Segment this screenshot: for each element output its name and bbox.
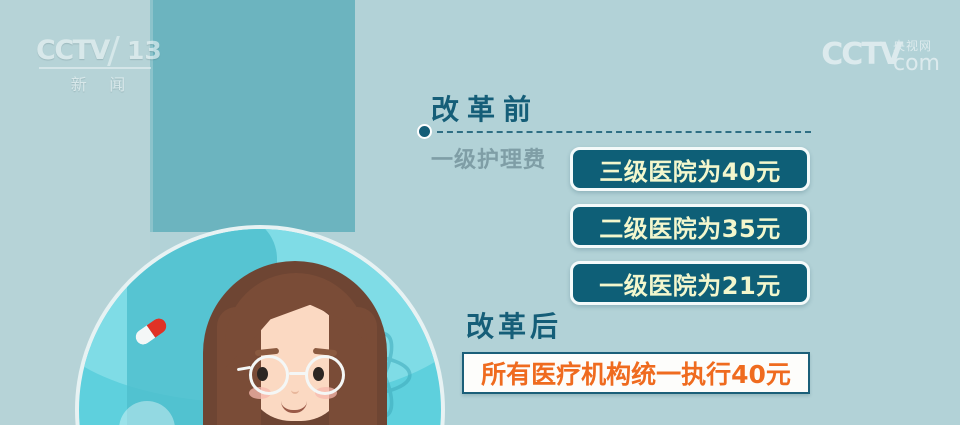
- watermark-cn-label: 央视网: [893, 40, 940, 53]
- care-level-label: 一级护理费: [431, 142, 546, 174]
- doctor-figure: [187, 255, 403, 425]
- background-band-edge: [150, 0, 153, 232]
- fee-badge-tier1: 一级医院为21元: [570, 261, 810, 305]
- after-reform-label: 改革后: [466, 305, 562, 345]
- fee-badge-tier3: 三级医院为40元: [570, 147, 810, 191]
- fee-badge-tier2-text: 二级医院为35元: [599, 209, 780, 244]
- watermark-right: 央视网 com: [893, 38, 940, 75]
- timeline-dot-icon: [417, 124, 432, 139]
- timeline-dashed-line: [437, 131, 811, 133]
- doctor-illustration: [75, 225, 445, 425]
- after-reform-statement-box: 所有医疗机构统一执行40元: [462, 352, 810, 394]
- watermark-domain: com: [893, 53, 940, 75]
- broadcast-graphic: CCTV 13 新 闻 CCTV 央视网 com: [0, 0, 960, 425]
- fee-badge-tier3-text: 三级医院为40元: [599, 152, 780, 187]
- after-reform-statement-text: 所有医疗机构统一执行40元: [481, 355, 791, 391]
- before-reform-label: 改革前: [431, 88, 539, 128]
- background-dark-band: [150, 0, 355, 232]
- cctv-com-watermark: CCTV 央视网 com: [821, 38, 940, 82]
- glasses-icon: [243, 355, 355, 395]
- watermark-wordmark: CCTV: [821, 38, 901, 72]
- fee-badge-tier1-text: 一级医院为21元: [599, 266, 780, 301]
- fee-badge-tier2: 二级医院为35元: [570, 204, 810, 248]
